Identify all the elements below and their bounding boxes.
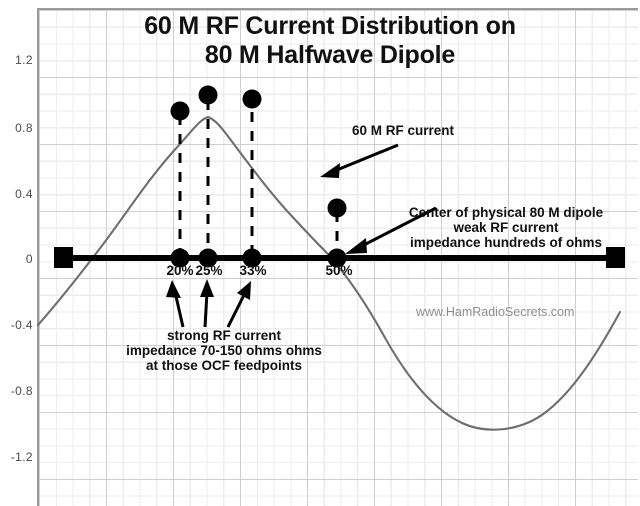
strong-callout-arrow-25	[200, 279, 214, 327]
x-label-50: 50%	[325, 263, 352, 278]
x-label-20: 20%	[166, 263, 193, 278]
dipole-end-left	[54, 247, 73, 268]
chart-title-line1: 60 M RF Current Distribution on	[60, 12, 600, 41]
strong-annotation-line3: at those OCF feedpoints	[88, 358, 360, 373]
curve-marker-50	[328, 199, 347, 218]
strong-annotation-line1: strong RF current	[88, 328, 360, 343]
curve-marker-33	[243, 90, 262, 109]
curve-callout-arrow	[320, 145, 398, 178]
watermark: www.HamRadioSecrets.com	[416, 305, 574, 319]
chart-vector-layer	[0, 0, 640, 506]
center-annotation-line1: Center of physical 80 M dipole	[380, 205, 632, 220]
center-annotation-line3: impedance hundreds of ohms	[380, 235, 632, 250]
x-label-33: 33%	[239, 263, 266, 278]
strong-annotation-line2: impedance 70-150 ohms ohms	[88, 343, 360, 358]
strong-callout-arrow-33	[228, 281, 251, 327]
curve-marker-20	[171, 102, 190, 121]
x-label-25: 25%	[195, 263, 222, 278]
chart-canvas: 1.2 0.8 0.4 0 -0.4 -0.8 -1.2	[0, 0, 640, 506]
strong-annotation: strong RF current impedance 70-150 ohms …	[88, 328, 360, 373]
strong-callout-arrow-20	[166, 280, 183, 327]
center-annotation: Center of physical 80 M dipole weak RF c…	[380, 205, 632, 250]
center-annotation-line2: weak RF current	[380, 220, 632, 235]
curve-marker-25	[199, 86, 218, 105]
curve-annotation: 60 M RF current	[352, 123, 454, 138]
chart-title-line2: 80 M Halfwave Dipole	[60, 41, 600, 70]
chart-title: 60 M RF Current Distribution on 80 M Hal…	[60, 12, 600, 70]
